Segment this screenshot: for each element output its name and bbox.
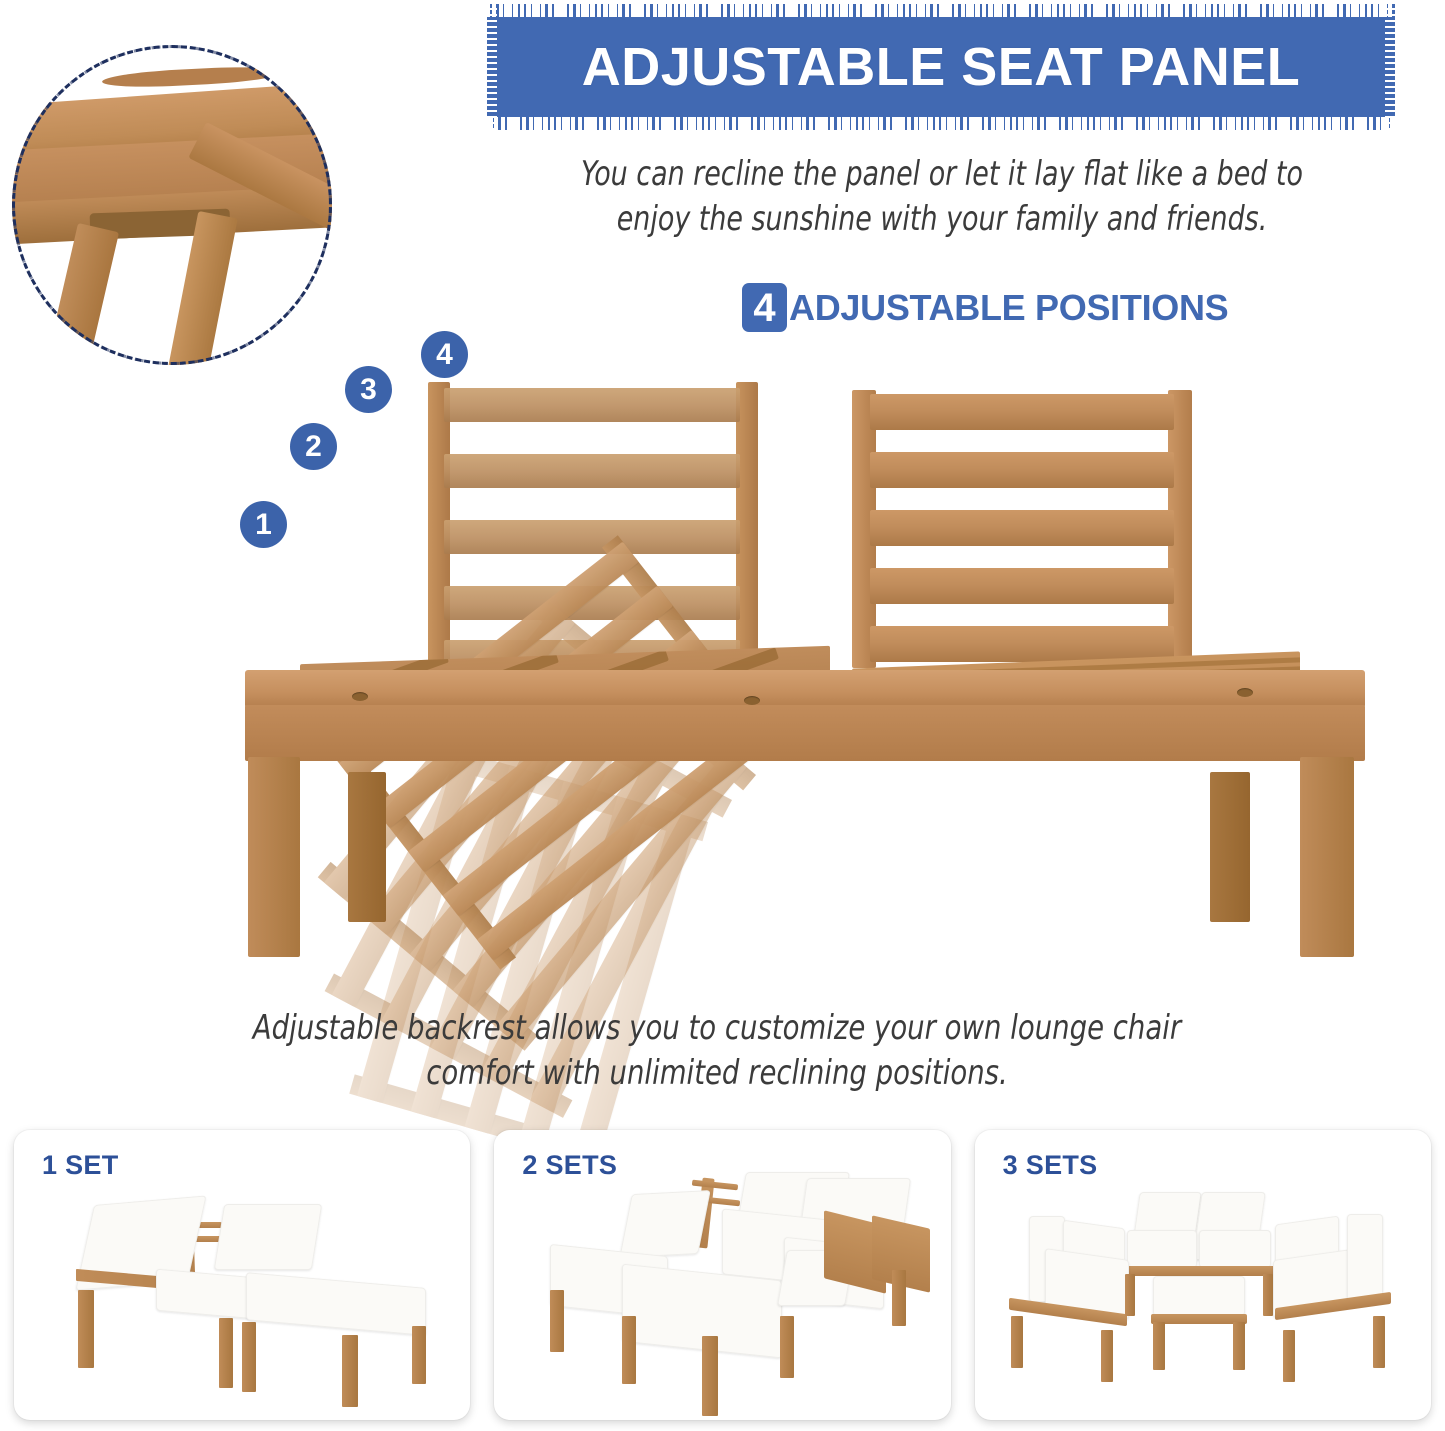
card-leg bbox=[550, 1290, 564, 1352]
right-back-cushion bbox=[1347, 1214, 1383, 1302]
card-leg bbox=[1101, 1330, 1113, 1382]
leg-rest-cushion bbox=[246, 1272, 426, 1336]
card-leg bbox=[1283, 1330, 1295, 1382]
leg-rear-left bbox=[348, 772, 386, 922]
card-leg bbox=[342, 1335, 358, 1407]
card-leg bbox=[1263, 1274, 1273, 1316]
infographic-page: ADJUSTABLE SEAT PANEL You can recline th… bbox=[0, 0, 1445, 1431]
main-product-image bbox=[0, 320, 1445, 1020]
header-subtitle: You can recline the panel or let it lay … bbox=[546, 152, 1338, 242]
card-leg bbox=[780, 1316, 794, 1378]
mechanism-closeup-image bbox=[12, 45, 332, 365]
card-leg bbox=[1373, 1316, 1385, 1368]
backrest-rail bbox=[870, 452, 1174, 488]
card-leg bbox=[1011, 1316, 1023, 1368]
page-title: ADJUSTABLE SEAT PANEL bbox=[582, 40, 1301, 94]
card-leg bbox=[892, 1270, 906, 1326]
backrest-rail bbox=[444, 388, 740, 422]
card-leg bbox=[242, 1322, 256, 1392]
card-2-sets[interactable]: 2 SETS bbox=[494, 1130, 950, 1420]
card-label: 3 SETS bbox=[1003, 1150, 1098, 1181]
card-3-sets[interactable]: 3 SETS bbox=[975, 1130, 1431, 1420]
card-leg bbox=[78, 1290, 94, 1368]
wood-sliver bbox=[102, 64, 283, 89]
card-leg bbox=[1233, 1322, 1245, 1370]
banner-edge-right bbox=[1385, 4, 1395, 130]
card-label: 2 SETS bbox=[522, 1150, 617, 1181]
leg-rear-right bbox=[1210, 772, 1250, 922]
card-1-set[interactable]: 1 SET bbox=[14, 1130, 470, 1420]
center-frame bbox=[1125, 1266, 1275, 1276]
ottoman-cushion bbox=[1153, 1276, 1245, 1316]
backrest-rail bbox=[870, 510, 1174, 546]
seat-cushion bbox=[156, 1269, 256, 1320]
bottom-caption: Adjustable backrest allows you to custom… bbox=[227, 1006, 1208, 1096]
back-pillow bbox=[214, 1204, 322, 1270]
card-leg bbox=[622, 1316, 636, 1384]
card-label: 1 SET bbox=[42, 1150, 119, 1181]
center-seat-cushion bbox=[1199, 1230, 1271, 1268]
header-banner: ADJUSTABLE SEAT PANEL bbox=[487, 4, 1395, 130]
leg-front-right bbox=[1300, 757, 1354, 957]
card-leg bbox=[412, 1326, 426, 1384]
bolt-hole bbox=[1237, 688, 1253, 697]
card-leg bbox=[1125, 1274, 1135, 1316]
backrest-slat bbox=[692, 1180, 738, 1191]
card-leg bbox=[219, 1318, 233, 1388]
bolt-hole bbox=[744, 696, 760, 705]
back-pillow bbox=[620, 1190, 711, 1258]
card-leg bbox=[702, 1336, 718, 1416]
backrest-rail bbox=[444, 520, 740, 554]
backrest-rail bbox=[444, 454, 740, 488]
seat-frame-top-rail bbox=[245, 670, 1365, 708]
bolt-hole bbox=[352, 692, 368, 701]
backrest-frame-right bbox=[852, 390, 1192, 668]
banner-edge-left bbox=[487, 4, 497, 130]
seat-frame-apron bbox=[245, 705, 1365, 761]
configuration-cards: 1 SET 2 SETS bbox=[14, 1130, 1431, 1420]
backrest-rail bbox=[870, 394, 1174, 430]
leg-front-left bbox=[248, 757, 300, 957]
backrest-rail bbox=[870, 568, 1174, 604]
card-leg bbox=[1153, 1322, 1165, 1370]
backrest-rail bbox=[870, 626, 1174, 662]
center-seat-cushion bbox=[1127, 1230, 1197, 1268]
